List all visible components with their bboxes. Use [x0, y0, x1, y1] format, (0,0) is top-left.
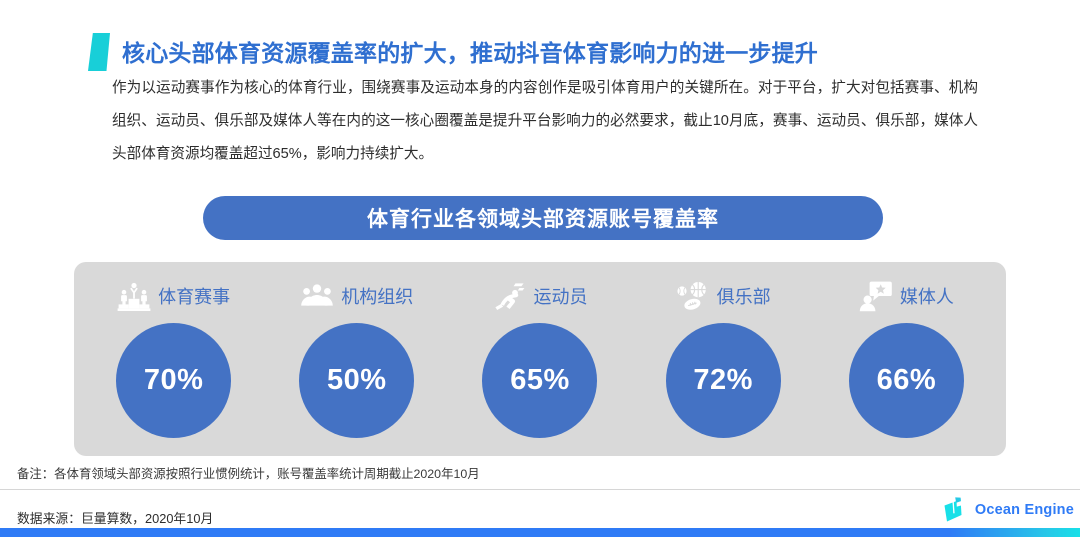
stat-card-label: 媒体人: [900, 283, 954, 309]
brand-logo: Ocean Engine: [936, 490, 1074, 530]
podium-icon: [117, 280, 151, 312]
stat-card-label: 体育赛事: [158, 283, 230, 309]
stat-card-header: 媒体人: [859, 275, 954, 317]
chart-title-banner: 体育行业各领域头部资源账号覆盖率: [203, 196, 883, 240]
stat-value-bubble: 65%: [482, 323, 597, 438]
chart-title-label: 体育行业各领域头部资源账号覆盖率: [367, 203, 719, 233]
ocean-engine-logo-text: Ocean Engine: [975, 502, 1074, 518]
sports-balls-icon: [676, 280, 710, 312]
data-source-text: 数据来源：巨量算数，2020年10月: [17, 508, 213, 527]
stats-card-list: 体育赛事 70% 机构组织 50%: [74, 262, 1006, 456]
stat-card-header: 机构组织: [300, 275, 413, 317]
footer-bar: [0, 528, 1080, 537]
stat-value-bubble: 50%: [299, 323, 414, 438]
stat-card-athletes[interactable]: 运动员 65%: [455, 262, 625, 438]
people-group-icon: [300, 280, 334, 312]
stat-card-sports-events[interactable]: 体育赛事 70%: [89, 262, 259, 438]
stat-card-label: 运动员: [533, 283, 587, 309]
stat-card-label: 俱乐部: [717, 283, 771, 309]
ocean-engine-logo-icon: [936, 493, 970, 527]
footer-divider: [0, 489, 1080, 490]
stat-card-label: 机构组织: [341, 283, 413, 309]
stat-card-header: 体育赛事: [117, 275, 230, 317]
stat-value: 66%: [877, 364, 937, 397]
stat-value-bubble: 70%: [116, 323, 231, 438]
page-header: 核心头部体育资源覆盖率的扩大，推动抖音体育影响力的进一步提升: [0, 14, 1080, 70]
sprinter-icon: [492, 280, 526, 312]
stat-value: 65%: [510, 364, 570, 397]
page-title: 核心头部体育资源覆盖率的扩大，推动抖音体育影响力的进一步提升: [122, 34, 818, 68]
stat-card-clubs[interactable]: 俱乐部 72%: [638, 262, 808, 438]
stat-card-organizations[interactable]: 机构组织 50%: [272, 262, 442, 438]
stat-value-bubble: 72%: [666, 323, 781, 438]
stat-value: 50%: [327, 364, 387, 397]
stat-card-header: 俱乐部: [676, 275, 771, 317]
title-accent-icon: [88, 33, 110, 71]
stat-value: 70%: [144, 364, 204, 397]
person-speech-bubble-icon: [859, 280, 893, 312]
stat-card-header: 运动员: [492, 275, 587, 317]
body-paragraph: 作为以运动赛事作为核心的体育行业，围绕赛事及运动本身的内容创作是吸引体育用户的关…: [112, 72, 978, 171]
stat-value: 72%: [693, 364, 753, 397]
stat-card-media[interactable]: 媒体人 66%: [821, 262, 991, 438]
footnote-text: 备注：各体育领域头部资源按照行业惯例统计，账号覆盖率统计周期截止2020年10月: [17, 464, 480, 482]
stat-value-bubble: 66%: [849, 323, 964, 438]
